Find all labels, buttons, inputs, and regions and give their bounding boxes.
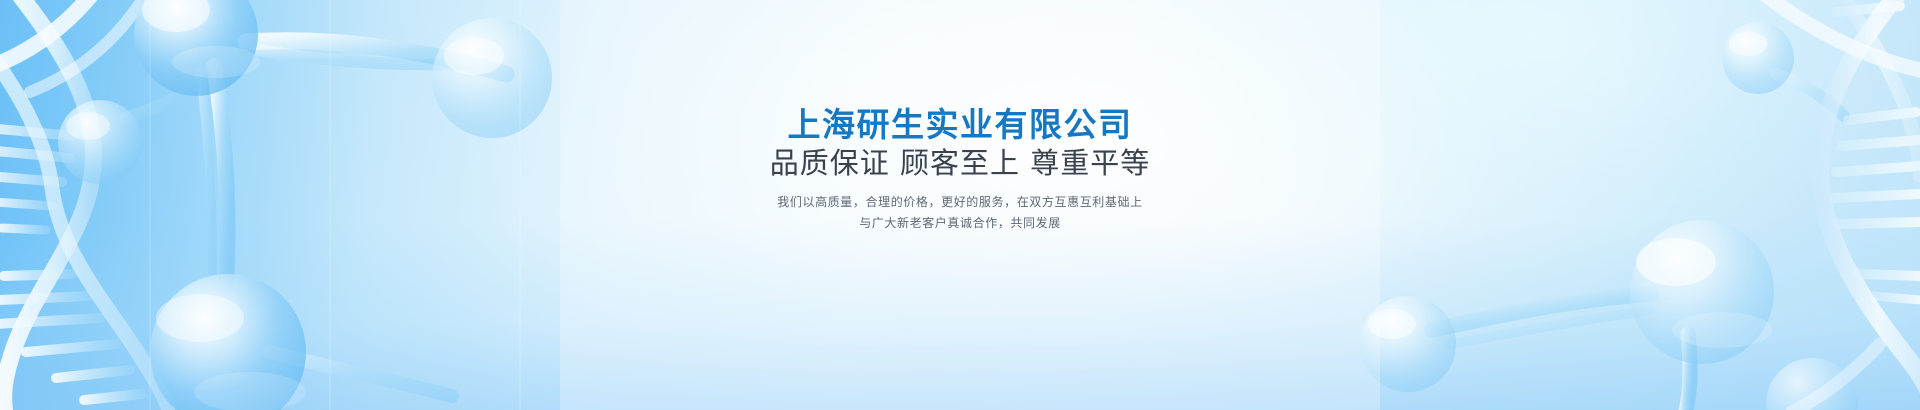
company-description-line-2: 与广大新老客户真诚合作，共同发展 [0, 213, 1920, 234]
company-slogan: 品质保证 顾客至上 尊重平等 [0, 149, 1920, 178]
page-title: 上海研生实业有限公司 [0, 108, 1920, 141]
banner-text-block: 上海研生实业有限公司 品质保证 顾客至上 尊重平等 我们以高质量，合理的价格，更… [0, 108, 1920, 234]
company-description-line-1: 我们以高质量，合理的价格，更好的服务，在双方互惠互利基础上 [0, 192, 1920, 213]
company-hero-banner: 上海研生实业有限公司 品质保证 顾客至上 尊重平等 我们以高质量，合理的价格，更… [0, 0, 1920, 410]
